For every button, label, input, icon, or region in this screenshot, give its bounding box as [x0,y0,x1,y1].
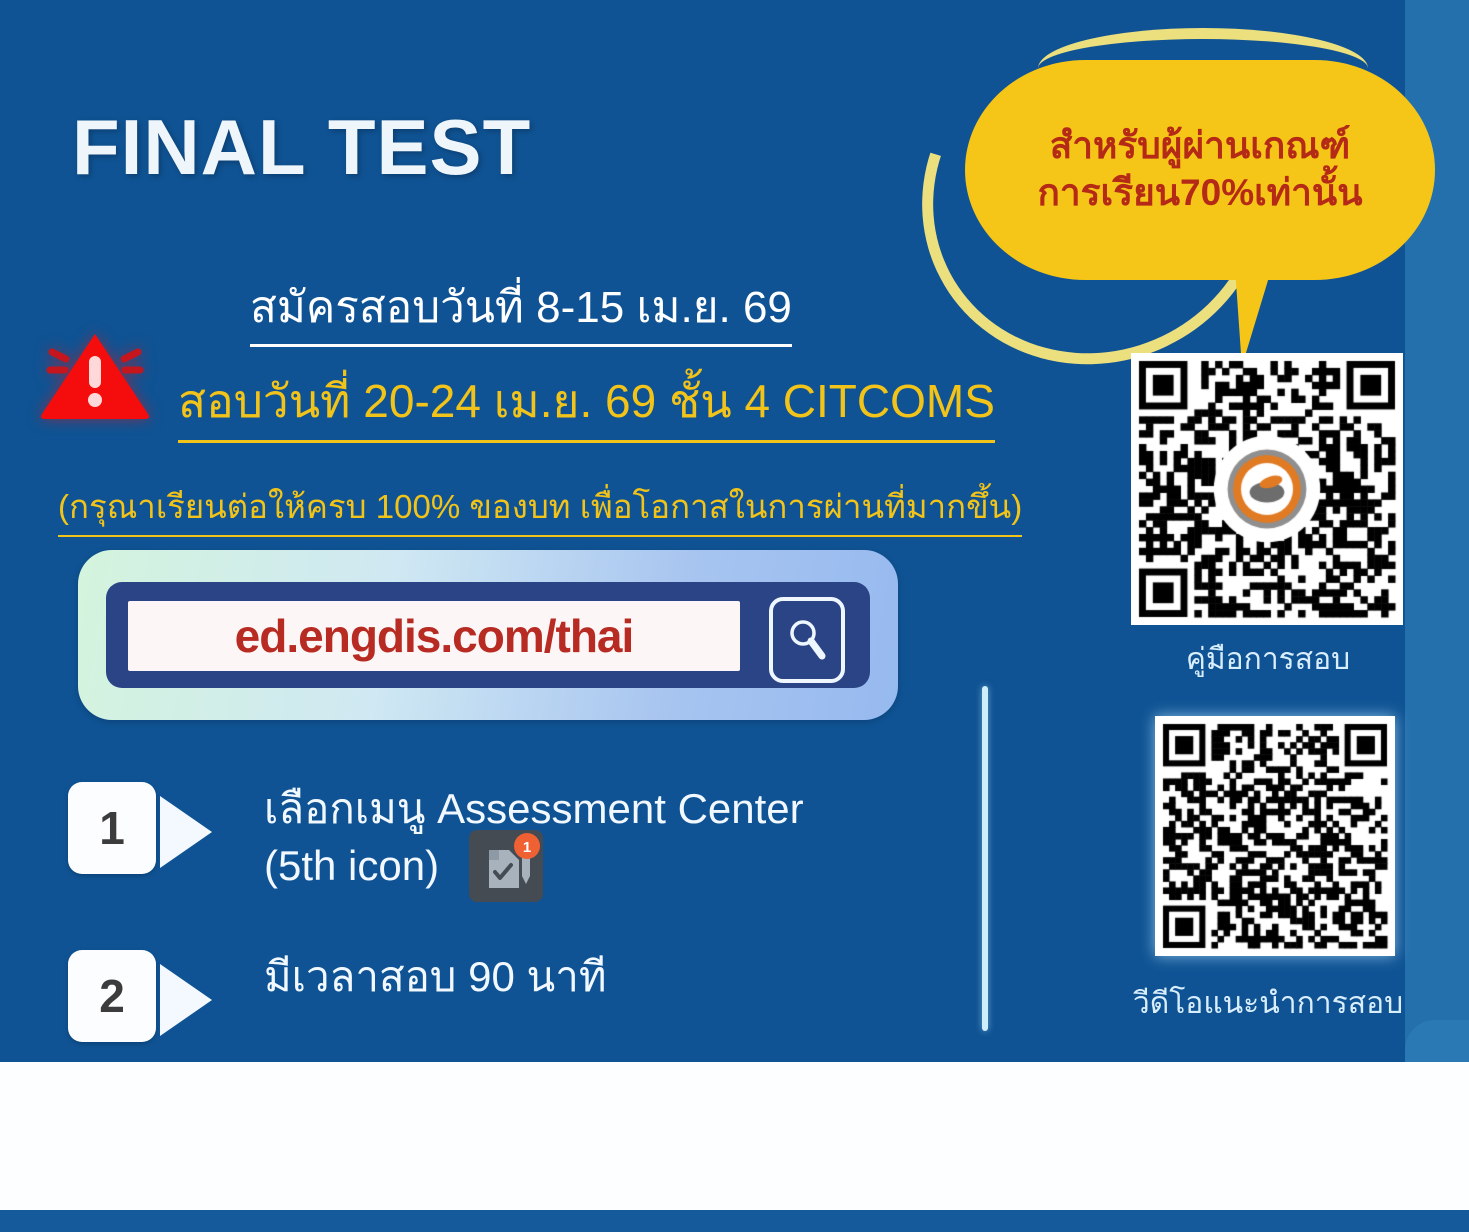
chevron-right-icon [160,964,212,1036]
page-title: FINAL TEST [72,108,531,186]
qr-code-exam-manual[interactable] [1131,353,1403,625]
search-url-text: ed.engdis.com/thai [235,609,634,663]
step-text: มีเวลาสอบ 90 นาที [264,950,607,1004]
search-icon[interactable] [769,597,845,683]
warning-triangle-icon [30,322,160,427]
qr-canvas [1131,353,1403,625]
step-text-line-1: เลือกเมนู Assessment Center [264,782,804,836]
assessment-center-icon[interactable]: 1 [469,830,543,902]
bubble-text: สำหรับผู้ผ่านเกณฑ์ การเรียน70%เท่านั้น [965,60,1435,280]
exam-date-text: สอบวันที่ 20-24 เม.ย. 69 ชั้น 4 CITCOMS [178,365,995,443]
qr-caption-exam-video: วีดีโอแนะนำการสอบ [1088,980,1448,1027]
footer: CONTACT US : f EdusoftXTH L @edothailand… [0,1062,1469,1210]
bubble-line-2: การเรียน70%เท่านั้น [1038,170,1363,217]
step-number: 1 [68,782,156,874]
search-bar-inner: ed.engdis.com/thai [106,582,870,688]
step-text: เลือกเมนู Assessment Center (5th icon) 1 [264,782,804,902]
svg-text:1: 1 [523,839,531,856]
step-text-line-2-wrap: (5th icon) 1 [264,836,804,902]
eligibility-badge: สำหรับผู้ผ่านเกณฑ์ การเรียน70%เท่านั้น [920,20,1440,360]
step-text-line-2: (5th icon) [264,842,439,889]
chevron-right-icon [160,796,212,868]
list-item: 2 มีเวลาสอบ 90 นาที [68,950,607,1042]
search-bar-graphic: ed.engdis.com/thai [78,550,898,720]
footer-bottom-strip [0,1210,1469,1232]
qr-caption-exam-manual: คู่มือการสอบ [1088,636,1448,683]
step-text-line-1: มีเวลาสอบ 90 นาที [264,950,607,1004]
vertical-divider [982,686,988,1031]
poster-root: FINAL TEST สำหรับผู้ผ่านเกณฑ์ การเรียน70… [0,0,1469,1232]
qr-code-exam-video[interactable] [1155,716,1395,956]
bubble-line-1: สำหรับผู้ผ่านเกณฑ์ [1050,123,1351,170]
registration-date-text: สมัครสอบวันที่ 8-15 เม.ย. 69 [250,272,792,347]
step-number: 2 [68,950,156,1042]
qr-canvas [1155,716,1395,956]
list-item: 1 เลือกเมนู Assessment Center (5th icon)… [68,782,804,902]
completion-note-text: (กรุณาเรียนต่อให้ครบ 100% ของบท เพื่อโอก… [58,480,1022,537]
search-input[interactable]: ed.engdis.com/thai [128,601,740,671]
